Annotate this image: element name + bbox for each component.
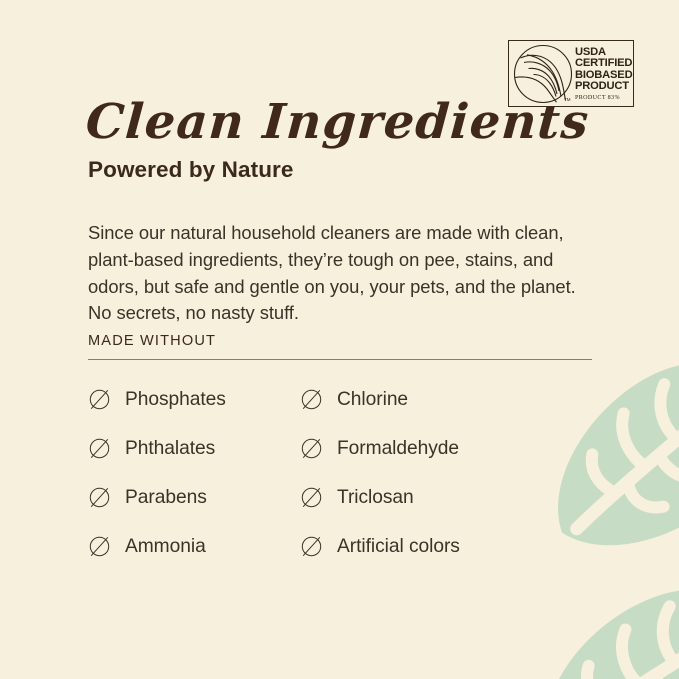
section-divider [88,359,592,360]
no-symbol-icon [300,388,323,411]
usda-biobased-mark-icon [512,43,574,105]
list-item: Artificial colors [300,535,460,558]
list-item-label: Artificial colors [337,535,460,558]
no-symbol-icon [88,437,111,460]
no-symbol-icon [88,388,111,411]
list-row: Phosphates Chlorine [88,388,598,437]
no-symbol-icon [88,486,111,509]
page-subtitle: Powered by Nature [88,157,294,183]
no-symbol-icon [300,486,323,509]
usda-trademark-mark: TM [564,97,571,102]
no-symbol-icon [300,535,323,558]
list-item: Phosphates [88,388,226,411]
body-paragraph: Since our natural household cleaners are… [88,220,593,326]
usda-line-4: PRODUCT [575,81,633,92]
list-item-label: Formaldehyde [337,437,459,460]
list-item: Phthalates [88,437,215,460]
clean-ingredients-infographic: USDA CERTIFIED BIOBASED PRODUCT PRODUCT … [0,0,679,679]
list-item: Triclosan [300,486,414,509]
list-item-label: Phthalates [125,437,215,460]
made-without-heading: MADE WITHOUT [88,333,216,349]
list-item: Ammonia [88,535,206,558]
list-item-label: Ammonia [125,535,206,558]
no-symbol-icon [300,437,323,460]
list-row: Phthalates Formaldehyde [88,437,598,486]
list-item-label: Parabens [125,486,207,509]
usda-badge-text: USDA CERTIFIED BIOBASED PRODUCT PRODUCT … [575,47,633,101]
list-item: Formaldehyde [300,437,459,460]
made-without-list: Phosphates Chlorine Phthalates [88,388,598,584]
list-row: Parabens Triclosan [88,486,598,535]
list-item-label: Phosphates [125,388,226,411]
usda-biobased-badge: USDA CERTIFIED BIOBASED PRODUCT PRODUCT … [508,40,634,107]
list-item: Parabens [88,486,207,509]
usda-product-percentage: PRODUCT 83% [575,95,633,101]
list-item-label: Triclosan [337,486,414,509]
list-item-label: Chlorine [337,388,408,411]
list-row: Ammonia Artificial colors [88,535,598,584]
no-symbol-icon [88,535,111,558]
list-item: Chlorine [300,388,408,411]
